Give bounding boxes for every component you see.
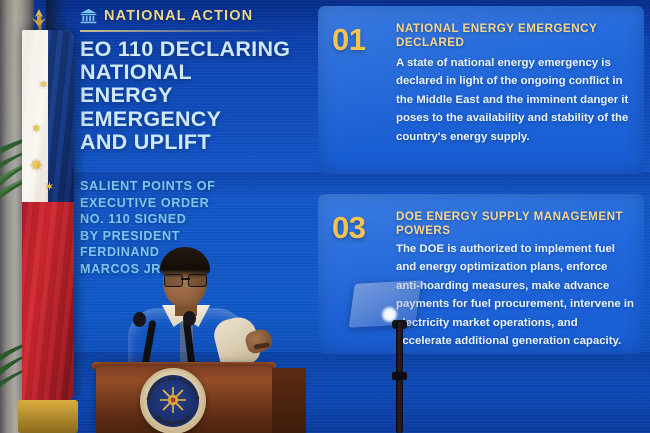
card-title: NATIONAL ENERGY EMERGENCY DECLARED [396,22,632,49]
subpoint-line-6: MARCOS JR. [80,261,295,278]
headline-line-1: EO 110 DECLARING [80,38,315,61]
slide-subpoints: SALIENT POINTS OF EXECUTIVE ORDER NO. 11… [80,178,295,278]
card-title: DOE ENERGY SUPPLY MANAGEMENT POWERS [396,210,632,237]
bank-building-icon [80,8,97,24]
headline-line-3: ENERGY [80,84,315,107]
presidential-seal: SAGISAG NG PANGULO NG PILIPINAS [140,368,206,433]
subpoint-line-3: NO. 110 SIGNED [80,211,295,228]
flag-finial-icon [28,8,50,32]
slide-headline: EO 110 DECLARING NATIONAL ENERGY EMERGEN… [80,38,315,154]
card-body: The DOE is authorized to implement fuel … [396,240,634,351]
philippine-flag: ✷ ✶ ✶ ✶ [22,30,74,405]
slide-card-01: 01 NATIONAL ENERGY EMERGENCY DECLARED A … [318,6,644,174]
slide-kicker-label: NATIONAL ACTION [104,8,253,24]
slide-card-03: 03 DOE ENERGY SUPPLY MANAGEMENT POWERS T… [318,194,644,354]
teleprompter-stand-joint [392,372,407,380]
card-number: 03 [332,210,365,246]
subpoint-line-1: SALIENT POINTS OF [80,178,295,195]
presentation-screenshot: NATIONAL ACTION EO 110 DECLARING NATIONA… [0,0,650,433]
slide-kicker: NATIONAL ACTION [80,8,253,24]
headline-line-5: AND UPLIFT [80,131,315,154]
subpoint-line-2: EXECUTIVE ORDER [80,195,295,212]
seal-lettering: SAGISAG NG PANGULO NG PILIPINAS [142,370,204,432]
seal-text-top: SAGISAG NG PANGULO [146,376,200,401]
headline-line-4: EMERGENCY [80,108,315,131]
microphone-head-left [133,312,146,327]
subpoint-line-5: FERDINAND [80,244,295,261]
card-body: A state of national energy emergency is … [396,54,634,146]
microphone-head-right [183,311,196,326]
podium-side-panel [272,368,306,433]
card-number: 01 [332,22,365,58]
headline-line-2: NATIONAL [80,61,315,84]
kicker-underline [80,30,280,32]
flag-fold-shading [22,30,74,405]
flag-base [18,400,78,433]
subpoint-line-4: BY PRESIDENT [80,228,295,245]
seal-text-bottom: NG PILIPINAS [154,414,191,427]
